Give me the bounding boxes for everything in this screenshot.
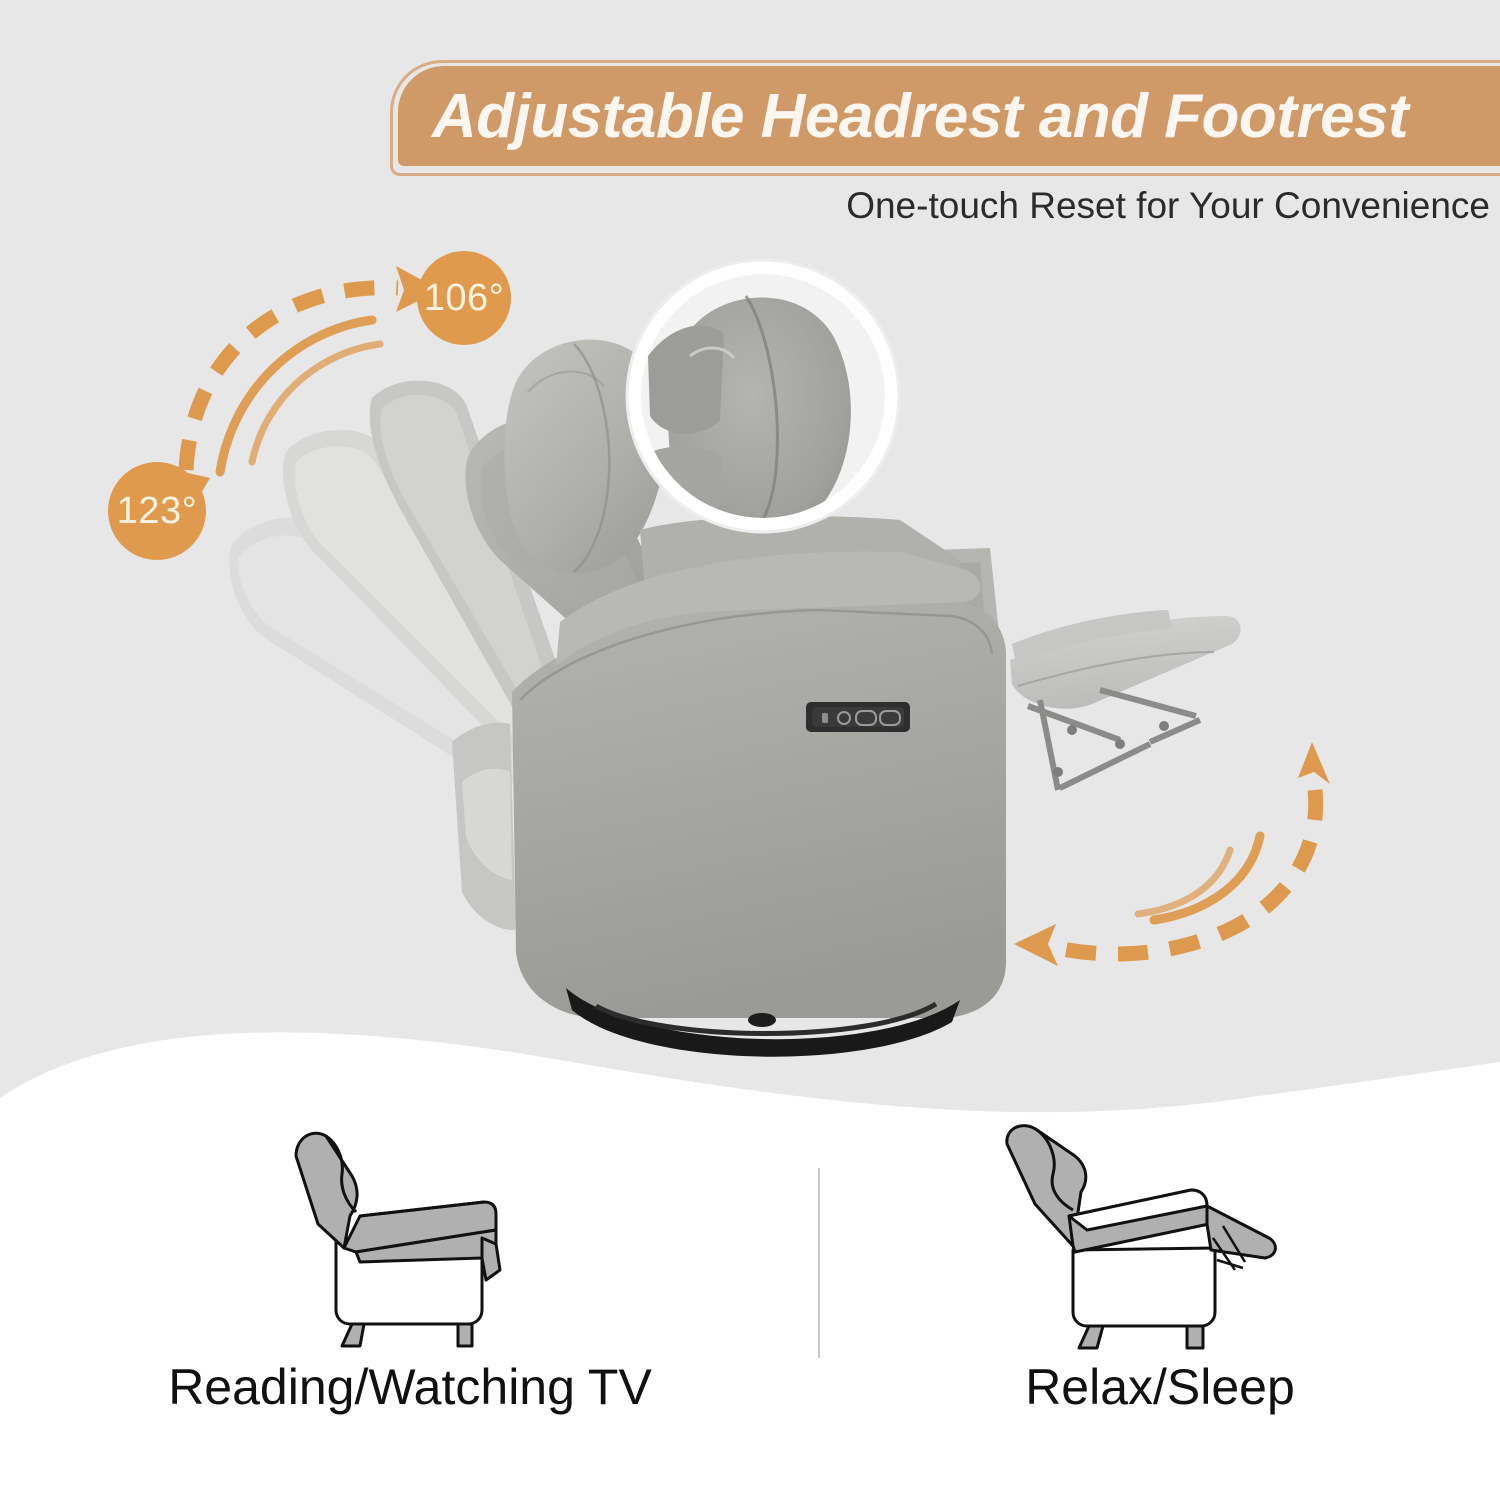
angle-badge-123: 123° [108,462,206,560]
mode-label-reading: Reading/Watching TV [168,1358,652,1416]
mode-relax-sleep: Relax/Sleep [860,1120,1460,1416]
page-subtitle: One-touch Reset for Your Convenience [700,182,1490,230]
upright-recliner-icon [260,1120,560,1350]
reclined-recliner-icon [995,1120,1325,1350]
mode-divider [818,1168,820,1358]
infographic-canvas: Adjustable Headrest and Footrest One-tou… [0,0,1500,1500]
mode-reading-watching-tv: Reading/Watching TV [60,1120,760,1416]
mode-label-relax: Relax/Sleep [1025,1358,1295,1416]
angle-badge-106: 106° [417,251,511,345]
top-background-panel [0,0,1500,1140]
page-title: Adjustable Headrest and Footrest [432,66,1490,166]
